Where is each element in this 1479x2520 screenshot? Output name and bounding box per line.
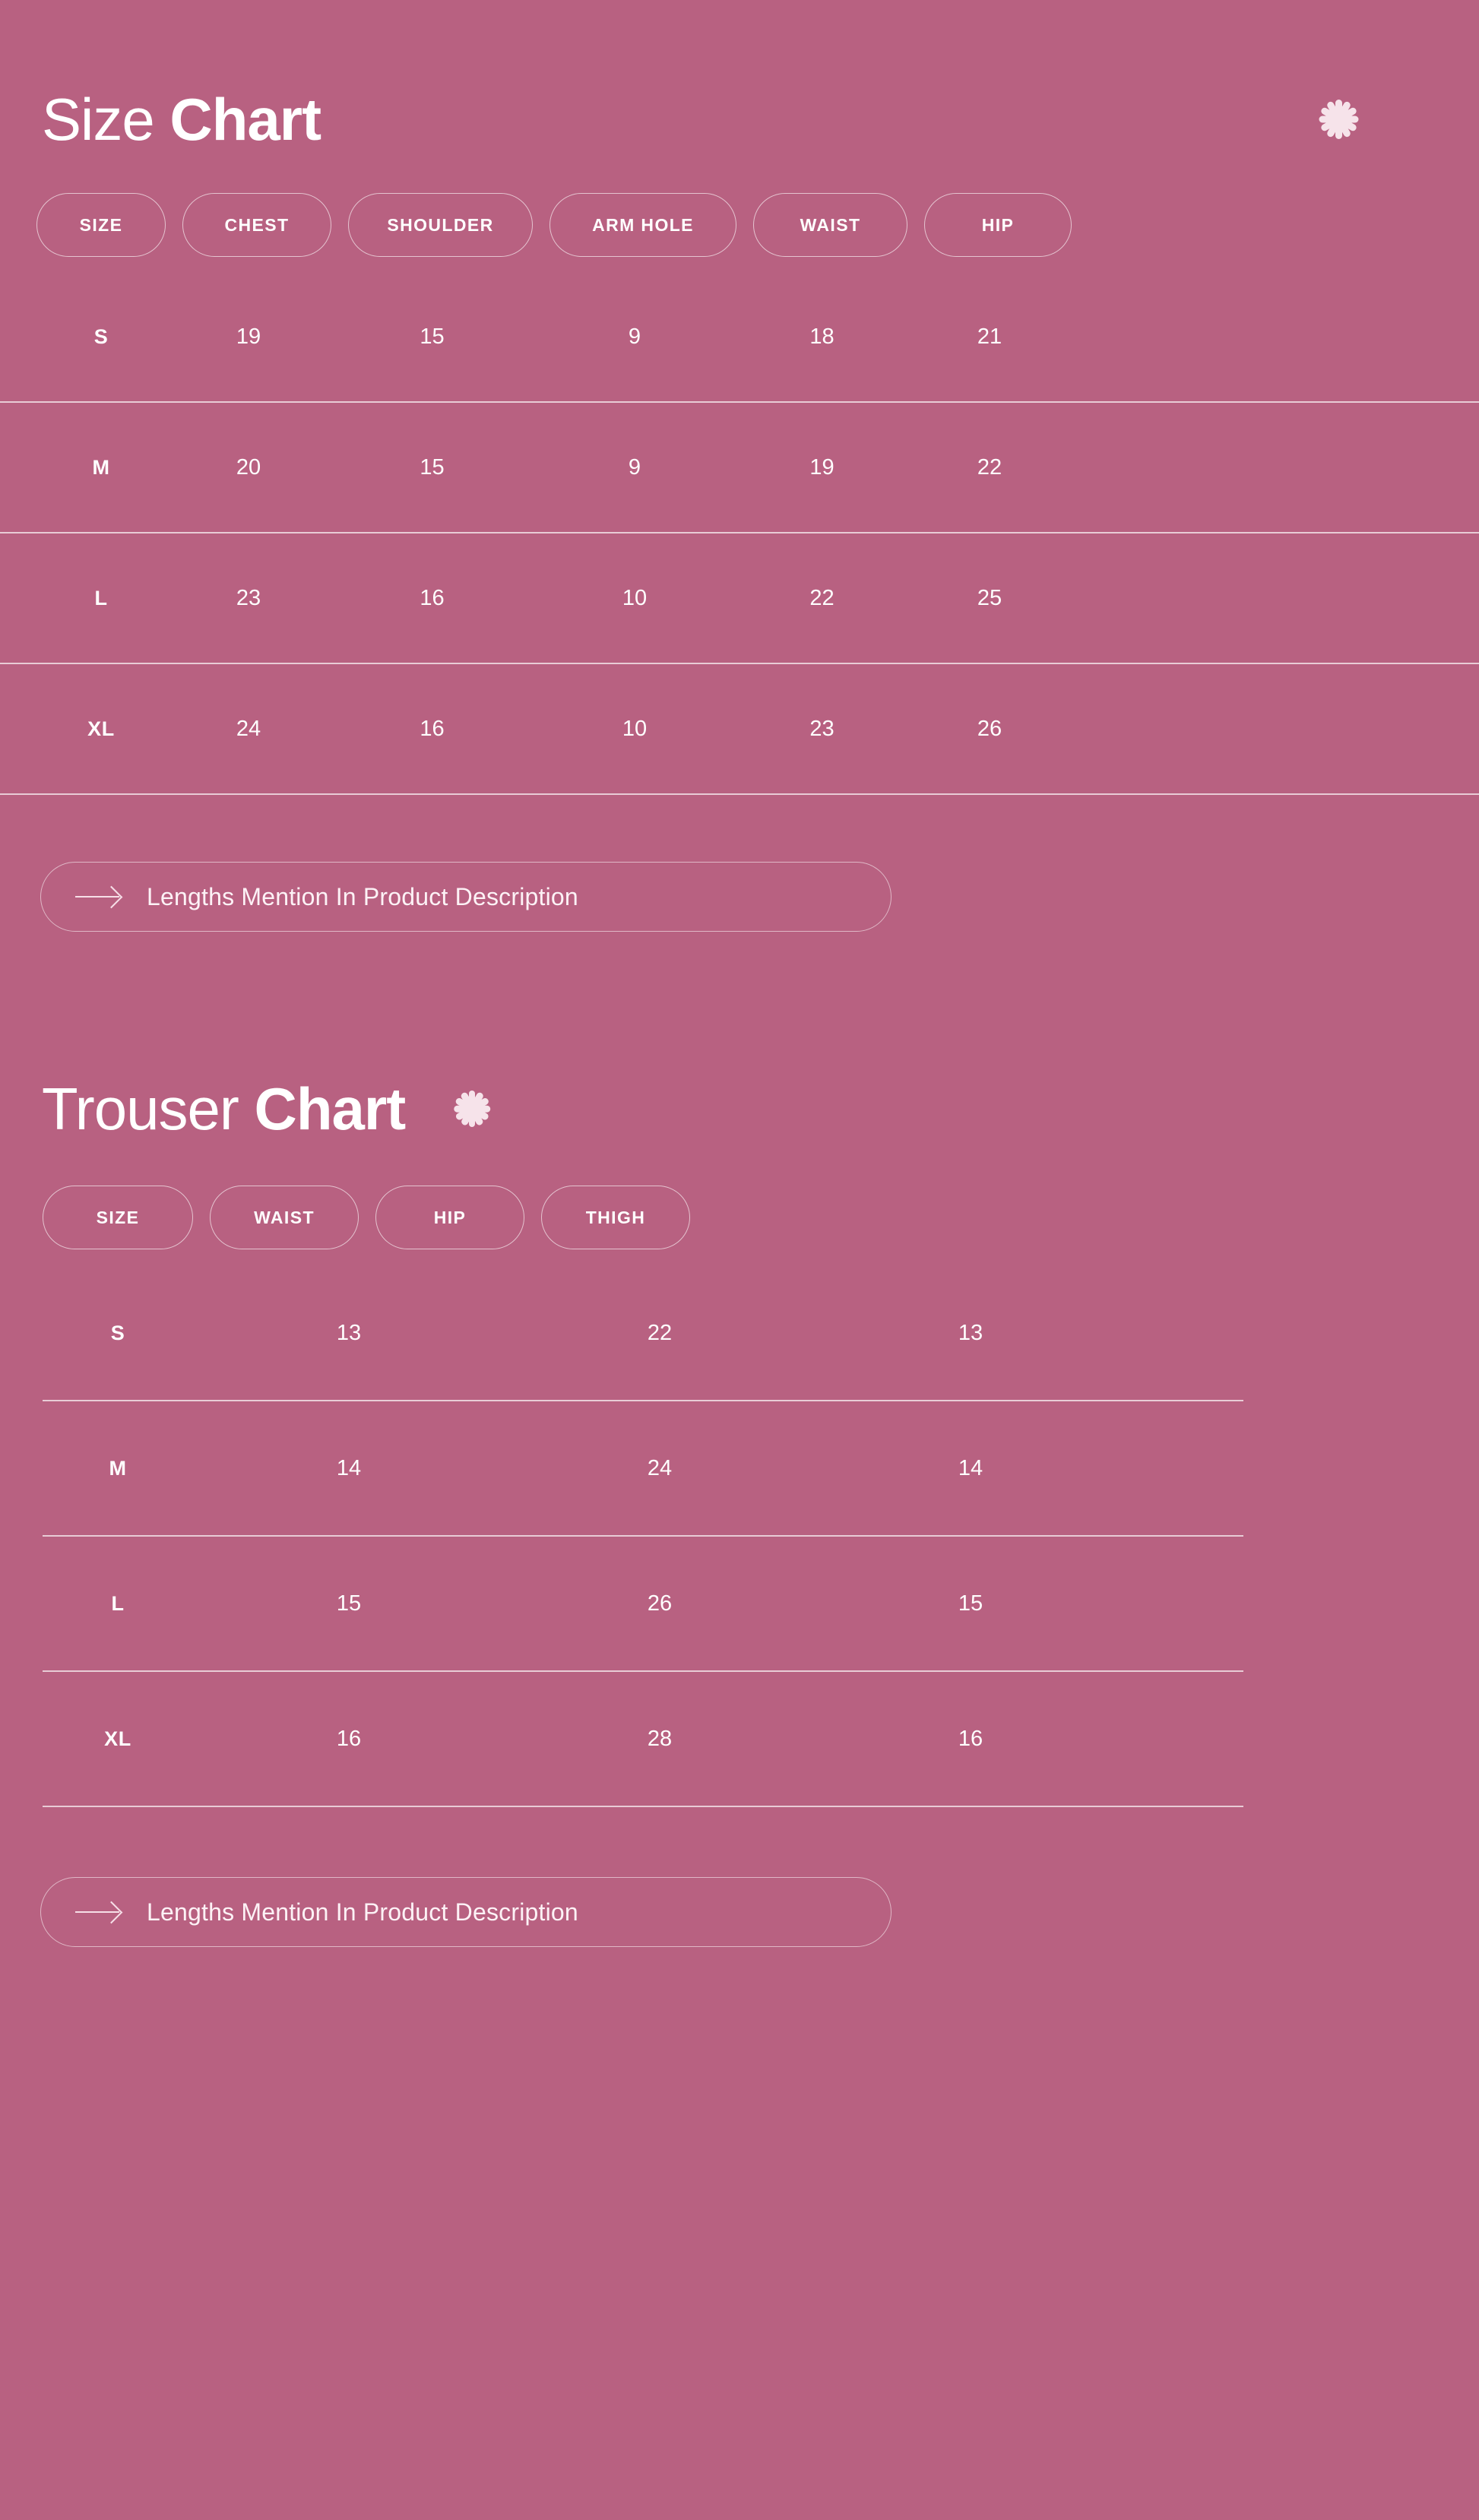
arrow-right-icon <box>75 888 122 906</box>
cell-hip: 28 <box>505 1727 815 1752</box>
trouser-chart-column-headers: SIZE WAIST HIP THIGH <box>0 1186 1479 1249</box>
cell-thigh: 15 <box>815 1591 1126 1616</box>
title-bold-part: Chart <box>255 1075 406 1142</box>
cell-shoulder: 15 <box>331 324 533 350</box>
cell-hip: 26 <box>907 717 1072 742</box>
column-header-shoulder[interactable]: SHOULDER <box>348 193 533 257</box>
cell-waist: 16 <box>193 1727 505 1752</box>
lengths-note-button[interactable]: Lengths Mention In Product Description <box>40 862 892 932</box>
page-title: Size Chart <box>42 90 321 149</box>
asterisk-icon <box>448 1084 496 1133</box>
cell-arm-hole: 10 <box>533 586 736 611</box>
trouser-chart-header: Trouser Chart <box>0 1079 1479 1138</box>
trouser-chart-rows: S 13 22 13 M 14 24 14 L 15 26 15 XL <box>0 1266 1479 1807</box>
column-header-hip[interactable]: HIP <box>924 193 1072 257</box>
cell-chest: 23 <box>166 586 331 611</box>
column-header-waist[interactable]: WAIST <box>210 1186 359 1249</box>
cell-hip: 22 <box>907 455 1072 480</box>
cell-size: S <box>43 1322 193 1345</box>
size-chart-note-wrap: Lengths Mention In Product Description <box>0 862 1479 932</box>
column-header-waist[interactable]: WAIST <box>753 193 907 257</box>
trouser-chart-note-wrap: Lengths Mention In Product Description <box>0 1877 1479 2031</box>
cell-waist: 13 <box>193 1321 505 1346</box>
row-divider <box>0 793 1479 795</box>
arrow-right-icon <box>75 1903 122 1921</box>
size-chart-rows: S 19 15 9 18 21 M 20 15 9 19 22 L 23 16 <box>0 272 1479 795</box>
column-header-arm-hole[interactable]: ARM HOLE <box>549 193 736 257</box>
lengths-note-label: Lengths Mention In Product Description <box>147 883 578 911</box>
lengths-note-label: Lengths Mention In Product Description <box>147 1898 578 1926</box>
size-chart-column-headers: SIZE CHEST SHOULDER ARM HOLE WAIST HIP <box>0 193 1479 257</box>
row-divider <box>43 1806 1243 1807</box>
cell-size: XL <box>36 717 166 741</box>
cell-shoulder: 15 <box>331 455 533 480</box>
column-header-thigh[interactable]: THIGH <box>541 1186 690 1249</box>
size-chart-header: Size Chart <box>0 0 1479 149</box>
cell-chest: 24 <box>166 717 331 742</box>
table-row: S 13 22 13 <box>43 1266 1479 1400</box>
title-bold-part: Chart <box>169 86 321 153</box>
cell-hip: 26 <box>505 1591 815 1616</box>
cell-hip: 21 <box>907 324 1072 350</box>
cell-waist: 22 <box>736 586 907 611</box>
cell-waist: 15 <box>193 1591 505 1616</box>
cell-size: L <box>43 1592 193 1616</box>
cell-shoulder: 16 <box>331 717 533 742</box>
trouser-chart-section: Trouser Chart SIZE WAIST HIP THIGH S 13 … <box>0 1079 1479 2031</box>
trouser-page-title: Trouser Chart <box>42 1079 405 1138</box>
cell-shoulder: 16 <box>331 586 533 611</box>
cell-hip: 24 <box>505 1456 815 1481</box>
cell-waist: 18 <box>736 324 907 350</box>
cell-waist: 14 <box>193 1456 505 1481</box>
column-header-size[interactable]: SIZE <box>43 1186 193 1249</box>
table-row: XL 24 16 10 23 26 <box>36 664 1479 793</box>
column-header-hip[interactable]: HIP <box>375 1186 524 1249</box>
cell-thigh: 16 <box>815 1727 1126 1752</box>
column-header-size[interactable]: SIZE <box>36 193 166 257</box>
table-row: L 15 26 15 <box>43 1537 1479 1670</box>
table-row: L 23 16 10 22 25 <box>36 533 1479 663</box>
cell-hip: 22 <box>505 1321 815 1346</box>
column-header-chest[interactable]: CHEST <box>182 193 331 257</box>
size-chart-page: Size Chart SIZE CHEST SHOULDER ARM HOLE … <box>0 0 1479 2520</box>
cell-size: M <box>43 1457 193 1480</box>
table-row: XL 16 28 16 <box>43 1672 1479 1806</box>
cell-chest: 20 <box>166 455 331 480</box>
cell-size: S <box>36 325 166 349</box>
size-chart-section: Size Chart SIZE CHEST SHOULDER ARM HOLE … <box>0 0 1479 932</box>
cell-size: M <box>36 456 166 480</box>
title-light-part: Size <box>42 86 154 153</box>
cell-size: L <box>36 587 166 610</box>
cell-arm-hole: 10 <box>533 717 736 742</box>
asterisk-icon <box>1312 93 1365 146</box>
cell-thigh: 14 <box>815 1456 1126 1481</box>
cell-arm-hole: 9 <box>533 455 736 480</box>
table-row: S 19 15 9 18 21 <box>36 272 1479 401</box>
cell-hip: 25 <box>907 586 1072 611</box>
title-light-part: Trouser <box>42 1075 239 1142</box>
cell-thigh: 13 <box>815 1321 1126 1346</box>
cell-waist: 23 <box>736 717 907 742</box>
cell-chest: 19 <box>166 324 331 350</box>
table-row: M 14 24 14 <box>43 1401 1479 1535</box>
table-row: M 20 15 9 19 22 <box>36 403 1479 532</box>
lengths-note-button[interactable]: Lengths Mention In Product Description <box>40 1877 892 1947</box>
cell-arm-hole: 9 <box>533 324 736 350</box>
cell-size: XL <box>43 1727 193 1751</box>
cell-waist: 19 <box>736 455 907 480</box>
